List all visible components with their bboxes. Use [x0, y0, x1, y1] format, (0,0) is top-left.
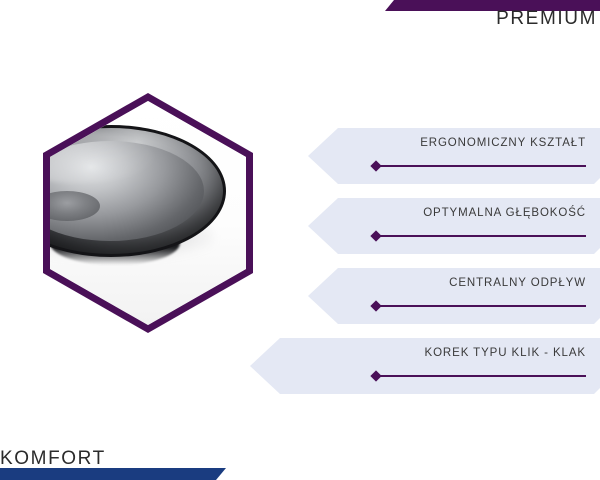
product-image-hexagon	[43, 93, 253, 333]
feature-underline	[376, 235, 586, 237]
feature-label-2: OPTYMALNA GŁĘBOKOŚĆ	[423, 205, 586, 221]
feature-item-2[interactable]: OPTYMALNA GŁĘBOKOŚĆ	[308, 198, 600, 254]
feature-item-3[interactable]: CENTRALNY ODPŁYW	[308, 268, 600, 324]
feature-label-4: KOREK TYPU KLIK - KLAK	[425, 345, 586, 361]
feature-label-1: ERGONOMICZNY KSZTAŁT	[420, 135, 586, 151]
feature-item-4[interactable]: KOREK TYPU KLIK - KLAK	[250, 338, 600, 394]
page-title-komfort: KOMFORT	[0, 448, 106, 470]
feature-underline	[376, 375, 586, 377]
feature-underline	[376, 165, 586, 167]
product-feature-slide: PREMIUM ERGONOMICZNY KSZTAŁT OPTYMALNA G	[0, 0, 600, 480]
page-title-premium: PREMIUM	[496, 8, 597, 30]
feature-label-3: CENTRALNY ODPŁYW	[449, 275, 586, 291]
feature-item-1[interactable]: ERGONOMICZNY KSZTAŁT	[308, 128, 600, 184]
feature-underline	[376, 305, 586, 307]
bottom-accent-banner	[0, 468, 226, 480]
